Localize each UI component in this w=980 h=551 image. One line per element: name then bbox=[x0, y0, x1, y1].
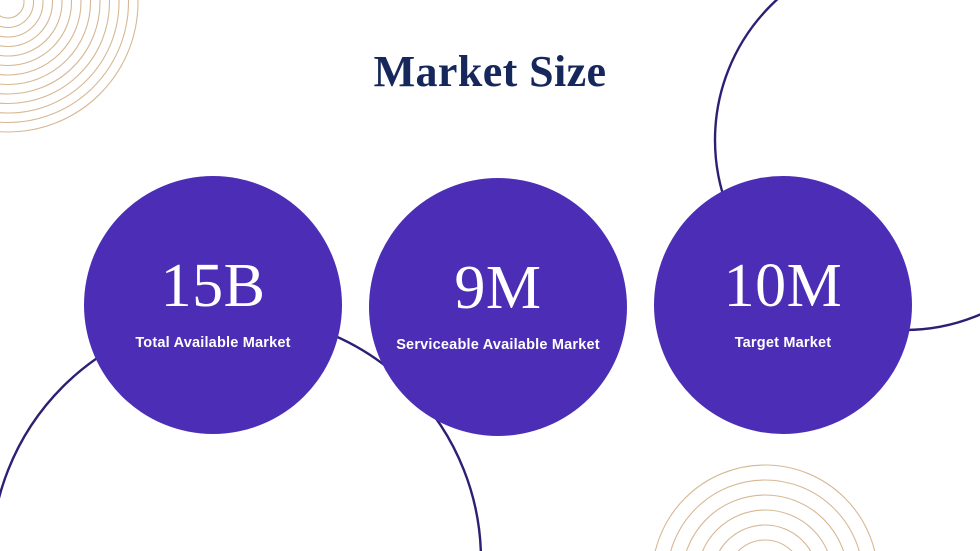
metric-circle-total-available-market[interactable]: 15B Total Available Market bbox=[84, 176, 342, 434]
metric-value: 15B bbox=[161, 255, 266, 317]
metric-label: Target Market bbox=[735, 333, 832, 354]
metric-value: 10M bbox=[724, 255, 843, 317]
concentric-gold-arcs bbox=[682, 495, 848, 551]
concentric-gold-arcs bbox=[727, 540, 803, 551]
metric-label: Total Available Market bbox=[135, 333, 290, 354]
concentric-gold-arcs bbox=[712, 525, 818, 551]
slide-canvas: Market Size 15B Total Available Market 9… bbox=[0, 0, 980, 551]
metric-label: Serviceable Available Market bbox=[396, 335, 600, 356]
metric-circle-target-market[interactable]: 10M Target Market bbox=[654, 176, 912, 434]
concentric-gold-arcs bbox=[0, 0, 34, 28]
concentric-gold-arcs bbox=[0, 0, 53, 47]
metric-value: 9M bbox=[454, 257, 541, 319]
concentric-gold-arcs bbox=[697, 510, 833, 551]
concentric-gold-arcs bbox=[667, 480, 863, 551]
metric-circle-serviceable-available-market[interactable]: 9M Serviceable Available Market bbox=[369, 178, 627, 436]
concentric-gold-arcs bbox=[652, 465, 878, 551]
concentric-gold-arcs bbox=[0, 0, 24, 18]
page-title: Market Size bbox=[0, 48, 980, 96]
metrics-row: 15B Total Available Market 9M Serviceabl… bbox=[0, 176, 980, 436]
concentric-gold-arcs bbox=[0, 0, 43, 37]
